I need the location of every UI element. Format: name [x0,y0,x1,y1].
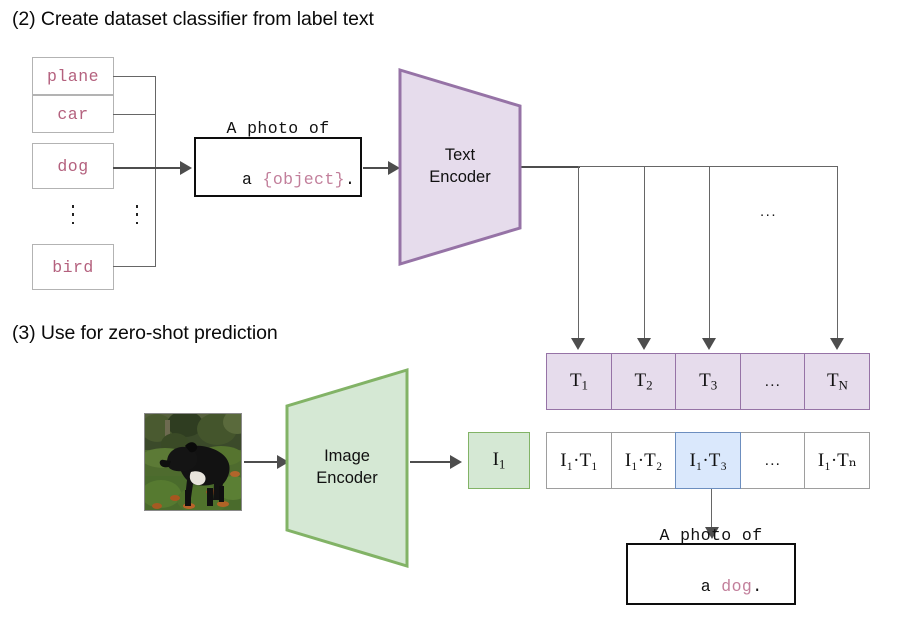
text-drop-2-line [644,166,645,342]
text-bus-main [520,166,580,168]
sim-dots: ... [765,452,781,470]
text-drop-n-head [830,338,844,350]
connector-bird-stub [113,266,156,267]
if-sub: 1 [499,456,506,471]
prompt-line2-prefix: a [242,170,263,189]
text-drop-n-line [837,166,838,342]
image-encoder-line-1: Image [316,446,377,468]
text-encoder-label: Text Encoder [429,145,490,189]
tf-base: T [635,370,647,391]
label-text: dog [57,157,88,176]
sim-text: I₁·T₃ [689,450,727,472]
sim-text: I₁·Tₙ [818,449,857,472]
labels-vertical-ellipsis-right [134,205,140,224]
label-box-car[interactable]: car [32,95,114,133]
connector-label-bus [155,76,156,267]
similarity-cell-2[interactable]: I₁·T₂ [611,432,677,489]
text-drop-3-head [702,338,716,350]
text-drop-1-head [571,338,585,350]
label-text: car [57,105,88,124]
prediction-line2-prefix: a [701,577,722,596]
prompt-line-1: A photo of [226,116,329,142]
connector-plane-stub [113,76,156,77]
prediction-box[interactable]: A photo of a dog. [626,543,796,605]
prediction-class-slot: dog [721,577,752,596]
tf-sub: 1 [582,377,589,392]
label-box-plane[interactable]: plane [32,57,114,95]
sim-text: I₁·T₁ [560,450,598,472]
text-feature-cell-ellipsis: ... [740,353,806,410]
prediction-line-2: a dog. [659,548,762,625]
arrow-labels-to-prompt-line [113,167,183,169]
label-text: plane [47,67,99,86]
similarity-cell-ellipsis: ... [740,432,806,489]
image-encoder-line-2: Encoder [316,468,377,490]
prompt-object-slot: {object} [263,170,345,189]
text-feature-cell-3[interactable]: T3 [675,353,741,410]
text-feature-cell-n[interactable]: TN [804,353,870,410]
tf-sub: N [839,377,848,392]
prediction-line-1: A photo of [659,523,762,549]
arrow-image-encoder-to-feature-head [450,455,462,469]
tf-base: T [827,370,839,391]
text-encoder-line-2: Encoder [429,167,490,189]
section-2-title: (2) Create dataset classifier from label… [12,8,374,31]
text-feature-cell-1[interactable]: T1 [546,353,612,410]
text-drop-1-line [578,166,579,342]
label-box-bird[interactable]: bird [32,244,114,290]
arrow-labels-to-prompt-head [180,161,192,175]
connector-car-stub [113,114,156,115]
image-encoder[interactable]: Image Encoder [285,368,409,568]
text-encoder[interactable]: Text Encoder [398,68,522,266]
prediction-line2-suffix: . [752,577,762,596]
text-bus-ellipsis: ... [760,203,777,220]
text-feature-cell-2[interactable]: T2 [611,353,677,410]
image-feature-box[interactable]: I1 [468,432,530,489]
photo-artwork [145,414,242,511]
prompt-template-box[interactable]: A photo of a {object}. [194,137,362,197]
similarity-row: I₁·T₁ I₁·T₂ I₁·T₃ ... I₁·Tₙ [546,432,870,489]
label-text: bird [52,258,94,277]
prompt-line2-suffix: . [345,170,355,189]
label-box-dog[interactable]: dog [32,143,114,189]
image-encoder-label: Image Encoder [316,446,377,490]
similarity-cell-1[interactable]: I₁·T₁ [546,432,612,489]
labels-vertical-ellipsis-left [70,205,76,224]
tf-base: T [570,370,582,391]
prompt-line-2: a {object}. [201,141,356,218]
text-feature-row: T1 T2 T3 ... TN [546,353,870,410]
sim-text: I₁·T₂ [625,450,663,472]
text-encoder-line-1: Text [429,145,490,167]
similarity-cell-3-selected[interactable]: I₁·T₃ [675,432,741,489]
tf-sub: 2 [646,377,653,392]
similarity-cell-n[interactable]: I₁·Tₙ [804,432,870,489]
input-image-photo[interactable] [144,413,242,511]
section-3-title: (3) Use for zero-shot prediction [12,322,278,345]
text-drop-3-line [709,166,710,342]
tf-dots: ... [765,373,781,391]
text-drop-2-head [637,338,651,350]
tf-sub: 3 [711,377,718,392]
tf-base: T [699,370,711,391]
